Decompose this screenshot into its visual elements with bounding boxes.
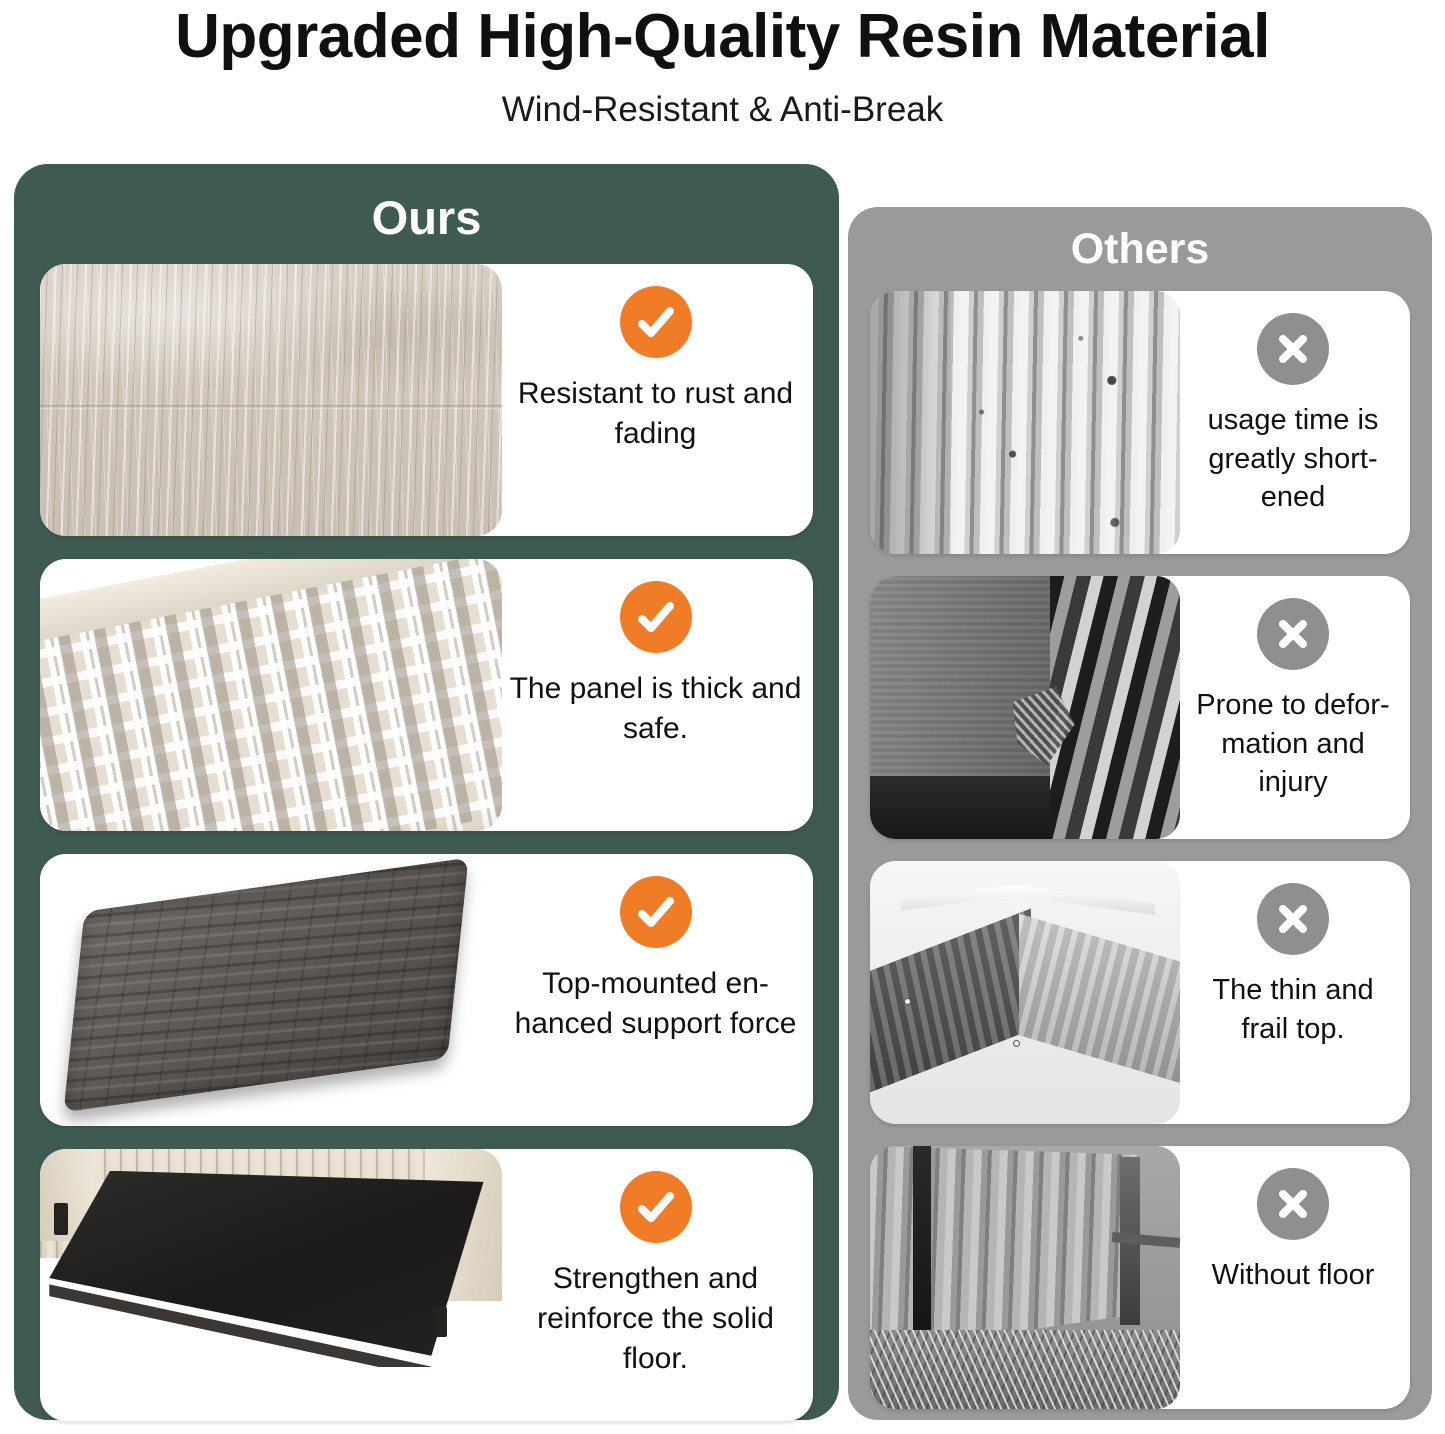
check-circle-icon [620, 581, 692, 653]
ours-row-label: The panel is thick and safe. [508, 669, 803, 749]
table-row: Resistant to rust and fading [40, 264, 813, 536]
page-subtitle: Wind-Resistant & Anti-Break [0, 68, 1445, 130]
ours-caption: Top-mounted en-hanced support force [502, 854, 813, 1126]
ours-caption: The panel is thick and safe. [502, 559, 813, 831]
others-rows: usage time is greatly short-ened [848, 291, 1432, 1431]
table-row: Without floor [870, 1146, 1410, 1409]
others-row-label: Without floor [1212, 1256, 1375, 1295]
table-row: The thin and frail top. [870, 861, 1410, 1124]
ours-caption: Resistant to rust and fading [502, 264, 813, 536]
cross-circle-icon [1257, 313, 1329, 385]
ribbed-perforated-resin-panel-photo [40, 559, 502, 831]
others-column-heading: Others [848, 207, 1432, 274]
table-row: usage time is greatly short-ened [870, 291, 1410, 554]
ours-column: Ours Resistant to rust and fading [14, 164, 839, 1420]
others-column: Others usage time is greatly short-ened [848, 207, 1432, 1420]
cross-circle-icon [1257, 883, 1329, 955]
others-caption: Prone to defor-mation and injury [1180, 576, 1410, 839]
table-row: Prone to defor-mation and injury [870, 576, 1410, 839]
cross-circle-icon [1257, 598, 1329, 670]
check-circle-icon [620, 876, 692, 948]
others-caption: The thin and frail top. [1180, 861, 1410, 1124]
table-row: The panel is thick and safe. [40, 559, 813, 831]
ours-caption: Strengthen and reinforce the solid floor… [502, 1149, 813, 1421]
thin-metal-roof-ridge-photo [870, 861, 1180, 1124]
page-title: Upgraded High-Quality Resin Material [0, 0, 1445, 68]
header: Upgraded High-Quality Resin Material Win… [0, 0, 1445, 130]
table-row: Top-mounted en-hanced support force [40, 854, 813, 1126]
dark-gray-ribbed-floor-tray-photo [40, 854, 502, 1126]
comparison-columns: Ours Resistant to rust and fading [0, 164, 1445, 1426]
check-circle-icon [620, 286, 692, 358]
check-circle-icon [620, 1171, 692, 1243]
table-row: Strengthen and reinforce the solid floor… [40, 1149, 813, 1421]
leaning-shed-wall-no-floor-photo [870, 1146, 1180, 1409]
cross-circle-icon [1257, 1168, 1329, 1240]
rusty-corrugated-metal-photo [870, 291, 1180, 554]
comparison-infographic: Upgraded High-Quality Resin Material Win… [0, 0, 1445, 1434]
others-row-label: The thin and frail top. [1186, 971, 1400, 1048]
others-caption: usage time is greatly short-ened [1180, 291, 1410, 554]
ours-rows: Resistant to rust and fading [14, 264, 839, 1434]
beige-woodgrain-resin-panel-photo [40, 264, 502, 536]
ours-row-label: Top-mounted en-hanced support force [508, 964, 803, 1044]
shed-interior-solid-floor-photo [40, 1149, 502, 1421]
others-row-label: usage time is greatly short-ened [1186, 401, 1400, 517]
others-caption: Without floor [1180, 1146, 1410, 1409]
ours-row-label: Strengthen and reinforce the solid floor… [508, 1259, 803, 1379]
others-row-label: Prone to defor-mation and injury [1186, 686, 1400, 802]
ours-column-heading: Ours [14, 164, 839, 245]
ours-row-label: Resistant to rust and fading [508, 374, 803, 454]
deformed-torn-metal-panel-photo [870, 576, 1180, 839]
